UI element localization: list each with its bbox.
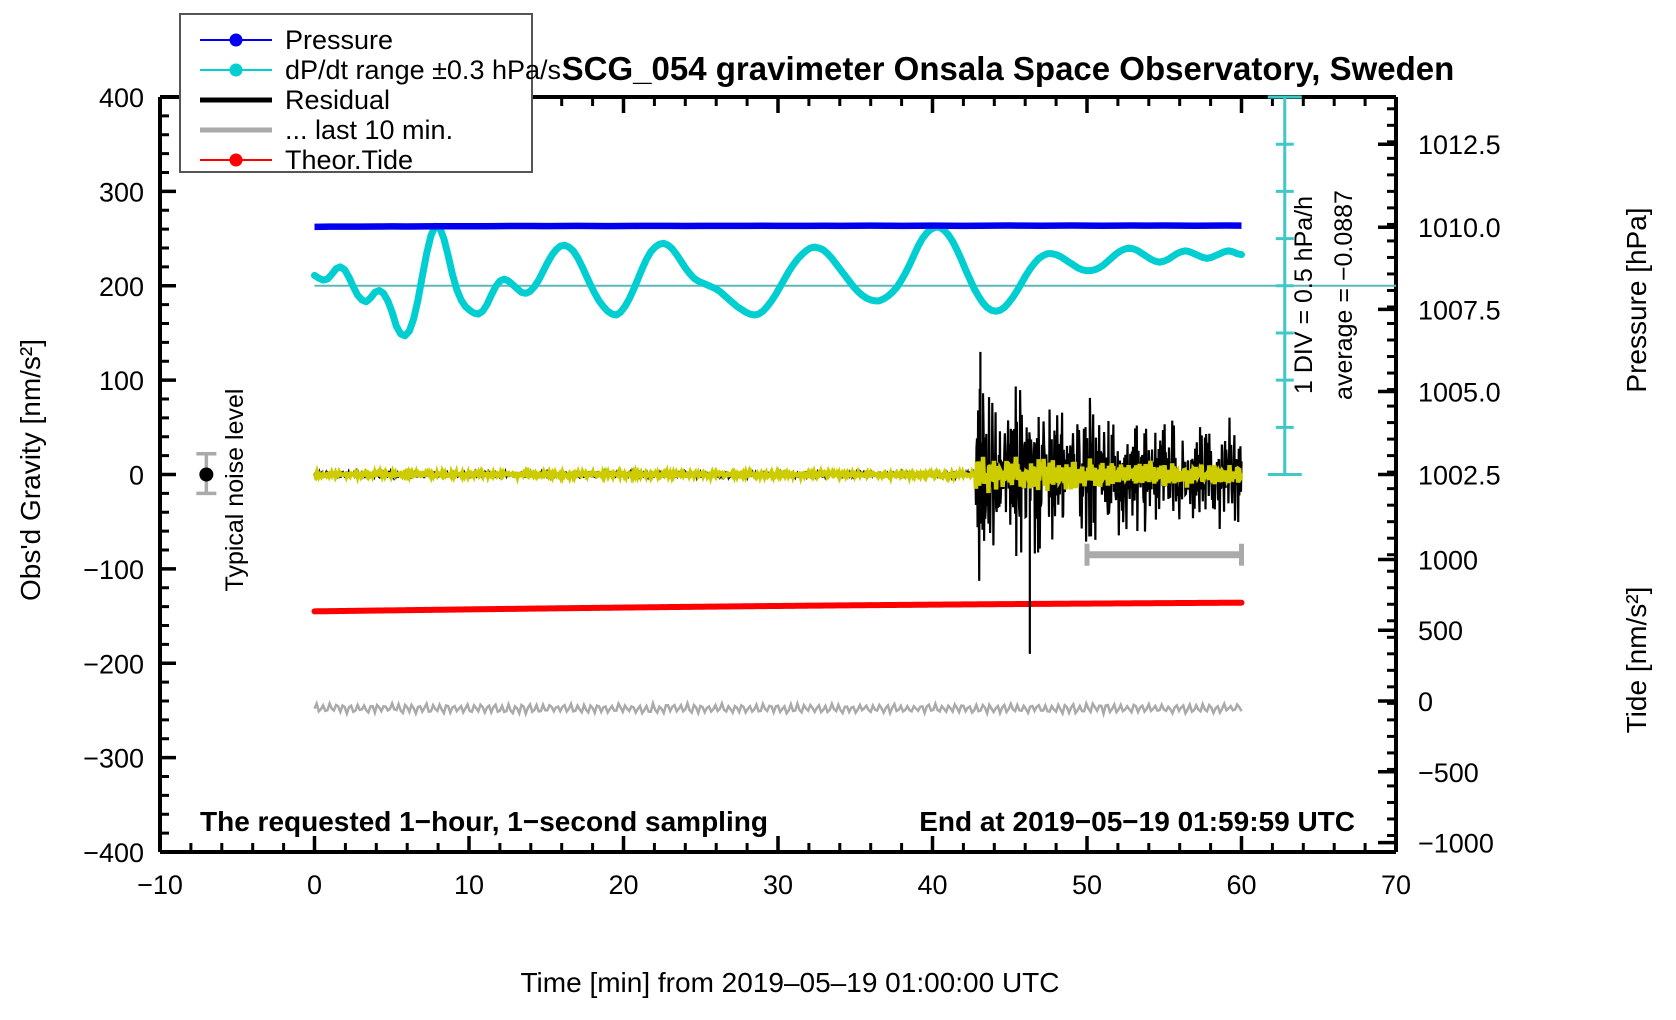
noise-errorbar-point	[199, 468, 213, 482]
y-tick-label: 100	[99, 366, 144, 396]
x-tick-label: 60	[1226, 870, 1256, 900]
chart-title: SCG_054 gravimeter Onsala Space Observat…	[562, 50, 1455, 87]
dpdt-scale-annotation: 1 DIV = 0.5 hPa/h	[1290, 196, 1318, 394]
legend-item-label: dP/dt range ±0.3 hPa/s	[285, 55, 561, 85]
legend-item-label: Theor.Tide	[285, 145, 413, 175]
x-axis-label: Time [min] from 2019–05–19 01:00:00 UTC	[520, 967, 1059, 998]
legend-swatch-marker	[230, 154, 243, 167]
tide-tick-label: 0	[1418, 687, 1433, 717]
y-tick-label: −200	[83, 649, 144, 679]
pressure-tick-label: 1005.0	[1418, 377, 1501, 407]
y-axis-label: Obs'd Gravity [nm/s²]	[15, 339, 46, 601]
gravimeter-plot: −10010203040506070 4003002001000−100−200…	[0, 0, 1676, 1020]
tide-tick-label: −1000	[1418, 829, 1494, 859]
y-tick-label: −400	[83, 838, 144, 868]
end-time-note: End at 2019−05−19 01:59:59 UTC	[919, 806, 1355, 837]
sampling-note: The requested 1−hour, 1−second sampling	[200, 806, 768, 837]
dpdt-average-annotation: average = −0.0887	[1330, 190, 1358, 400]
pressure-tick-label: 1012.5	[1418, 130, 1501, 160]
x-tick-label: 40	[917, 870, 947, 900]
legend-item-label: Residual	[285, 85, 390, 115]
y-tick-label: 300	[99, 177, 144, 207]
legend-item-label: Pressure	[285, 25, 393, 55]
pressure-tick-label: 1010.0	[1418, 213, 1501, 243]
x-tick-label: −10	[137, 870, 183, 900]
y-tick-label: 400	[99, 83, 144, 113]
tide-tick-label: 1000	[1418, 545, 1478, 575]
x-tick-label: 70	[1381, 870, 1411, 900]
tide-tick-label: 500	[1418, 616, 1463, 646]
figure-root: −10010203040506070 4003002001000−100−200…	[0, 0, 1676, 1020]
pressure-axis-label: Pressure [hPa]	[1621, 207, 1652, 392]
x-tick-label: 10	[454, 870, 484, 900]
x-tick-label: 30	[763, 870, 793, 900]
y-tick-label: −300	[83, 744, 144, 774]
series-pressure	[315, 226, 1242, 227]
legend-swatch-marker	[230, 34, 243, 47]
tide-axis-label: Tide [nm/s²]	[1621, 587, 1652, 734]
y-tick-label: −100	[83, 555, 144, 585]
y-tick-label: 200	[99, 272, 144, 302]
legend[interactable]: PressuredP/dt range ±0.3 hPa/sResidual..…	[180, 14, 561, 175]
pressure-tick-label: 1002.5	[1418, 461, 1501, 491]
x-tick-label: 50	[1072, 870, 1102, 900]
x-tick-label: 20	[608, 870, 638, 900]
tide-tick-label: −500	[1418, 758, 1479, 788]
legend-item-label: ... last 10 min.	[285, 115, 453, 145]
legend-swatch-marker	[230, 64, 243, 77]
noise-level-annotation: Typical noise level	[221, 389, 249, 592]
x-tick-label: 0	[307, 870, 322, 900]
y-tick-label: 0	[129, 461, 144, 491]
pressure-tick-label: 1007.5	[1418, 295, 1501, 325]
